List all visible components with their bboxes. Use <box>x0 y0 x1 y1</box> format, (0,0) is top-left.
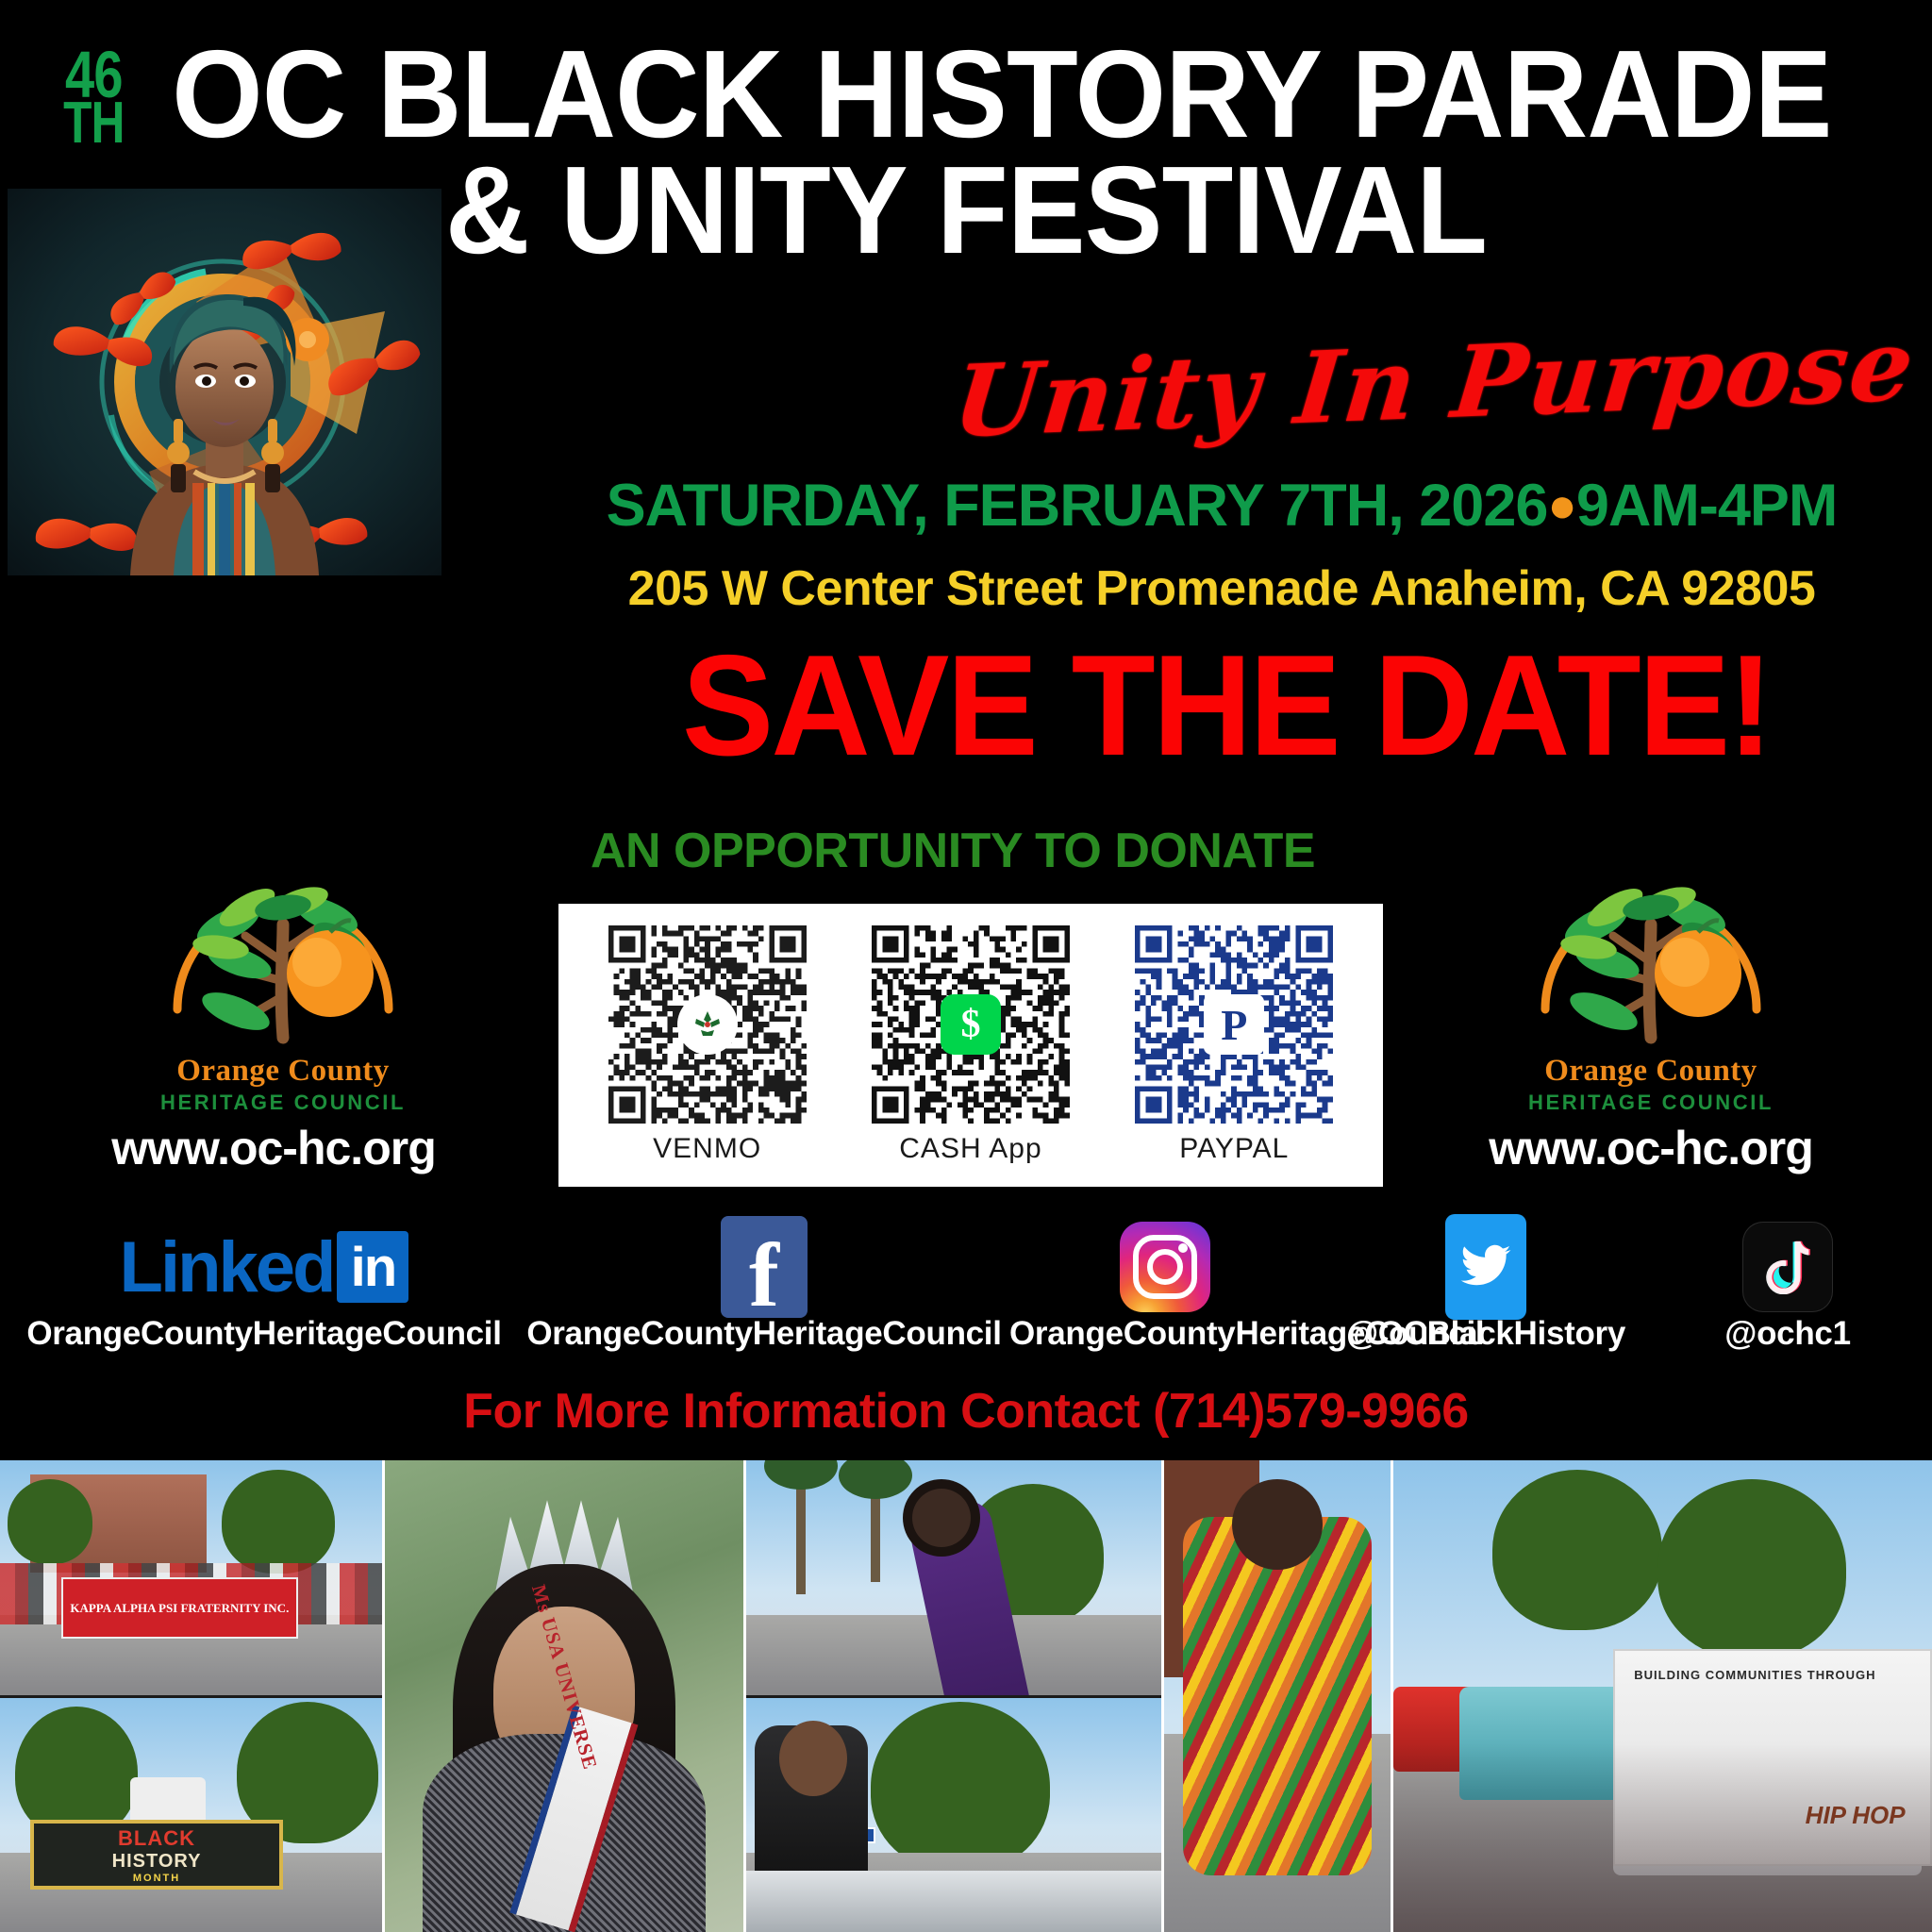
social-linkedin[interactable]: Linked in OrangeCountyHeritageCouncil <box>9 1226 519 1353</box>
collage-column-1: KAPPA ALPHA PSI FRATERNITY INC. BLACK HI… <box>0 1460 382 1932</box>
facebook-icon[interactable]: f <box>721 1216 808 1318</box>
logo-subtitle-left: HERITAGE COUNCIL <box>142 1091 425 1115</box>
collage-photo-kente-dancer <box>1164 1460 1391 1932</box>
linkedin-icon[interactable]: Linked in <box>9 1226 519 1307</box>
oc-heritage-logo-right: Orange County HERITAGE COUNCIL <box>1509 849 1792 1115</box>
social-tiktok[interactable]: @ochc1 <box>1651 1226 1924 1353</box>
hero-illustration <box>8 189 441 575</box>
social-twitter[interactable]: @OCBlackHistory <box>1321 1226 1651 1353</box>
orange-tree-icon <box>1509 849 1792 1052</box>
paypal-badge-icon: P <box>1204 994 1264 1055</box>
venmo-badge-icon <box>677 994 738 1055</box>
social-media-row: Linked in OrangeCountyHeritageCouncil f … <box>0 1226 1932 1377</box>
collage-photo-dancer <box>746 1460 1161 1695</box>
qr-code-venmo-image[interactable] <box>608 925 807 1124</box>
twitter-handle: @OCBlackHistory <box>1321 1315 1651 1353</box>
tagline-unity-in-purpose: Unity In Purpose <box>579 307 1921 475</box>
hip-hop-banner-text: BUILDING COMMUNITIES THROUGH <box>1634 1668 1875 1682</box>
tiktok-note-glyph <box>1763 1240 1812 1294</box>
oc-heritage-logo-left: Orange County HERITAGE COUNCIL <box>142 849 425 1115</box>
twitter-icon[interactable] <box>1445 1214 1526 1320</box>
bhm-line-1: BLACK <box>118 1826 195 1851</box>
linkedin-in-badge: in <box>337 1231 408 1303</box>
headline-line-1: 46 TH OC BLACK HISTORY PARADE <box>0 32 1932 157</box>
contact-line: For More Information Contact (714)579-99… <box>0 1383 1932 1440</box>
tiktok-icon[interactable] <box>1742 1222 1833 1312</box>
event-date-time: SATURDAY, FEBRUARY 7TH, 2026●9AM-4PM <box>528 472 1915 540</box>
qr-cashapp[interactable]: $ CASH App <box>853 925 1089 1165</box>
event-address: 205 W Center Street Promenade Anaheim, C… <box>528 560 1915 617</box>
qr-venmo[interactable]: VENMO <box>590 925 825 1165</box>
donate-heading: AN OPPORTUNITY TO DONATE <box>528 823 1377 879</box>
tiktok-handle: @ochc1 <box>1651 1315 1924 1353</box>
collage-photo-convertible <box>746 1698 1161 1932</box>
qr-label-cashapp: CASH App <box>899 1133 1041 1165</box>
donation-qr-panel: VENMO $ CASH App P PAYPAL <box>558 904 1383 1187</box>
ordinal-46th: 46 TH <box>63 32 125 146</box>
hero-image <box>8 189 441 575</box>
date-separator-dot: ● <box>1547 478 1575 533</box>
website-url-right[interactable]: www.oc-hc.org <box>1434 1121 1868 1175</box>
event-date: SATURDAY, FEBRUARY 7TH, 2026 <box>607 473 1548 539</box>
collage-photo-queen: Ms USA UNIVERSE <box>385 1460 743 1932</box>
save-the-date-banner: SAVE THE DATE! <box>557 634 1897 777</box>
photo-collage: KAPPA ALPHA PSI FRATERNITY INC. BLACK HI… <box>0 1460 1932 1932</box>
bhm-line-3: MONTH <box>133 1873 180 1884</box>
facebook-handle: OrangeCountyHeritageCouncil <box>519 1315 1009 1353</box>
collage-photo-fraternity: KAPPA ALPHA PSI FRATERNITY INC. <box>0 1460 382 1695</box>
black-history-banner: BLACK HISTORY MONTH <box>30 1820 282 1890</box>
qr-code-paypal-image[interactable]: P <box>1135 925 1333 1124</box>
linkedin-wordmark: Linked <box>120 1226 334 1308</box>
linkedin-handle: OrangeCountyHeritageCouncil <box>9 1315 519 1353</box>
social-instagram[interactable]: OrangeCountyHeritageCouncil <box>1009 1226 1321 1353</box>
qr-paypal[interactable]: P PAYPAL <box>1116 925 1352 1165</box>
logo-name-right: Orange County <box>1509 1054 1792 1089</box>
orange-tree-icon <box>142 849 425 1052</box>
ordinal-suffix: TH <box>63 101 125 146</box>
instagram-dot <box>1178 1243 1188 1253</box>
instagram-handle: OrangeCountyHeritageCouncil <box>1009 1315 1321 1353</box>
twitter-bird-glyph <box>1458 1244 1513 1290</box>
social-facebook[interactable]: f OrangeCountyHeritageCouncil <box>519 1226 1009 1353</box>
instagram-lens <box>1147 1249 1183 1285</box>
collage-photo-lowriders: BUILDING COMMUNITIES THROUGH HIP HOP <box>1393 1460 1932 1932</box>
fraternity-banner: KAPPA ALPHA PSI FRATERNITY INC. <box>61 1577 298 1639</box>
logo-subtitle-right: HERITAGE COUNCIL <box>1509 1091 1792 1115</box>
logo-name-left: Orange County <box>142 1054 425 1089</box>
bhm-line-2: HISTORY <box>112 1851 202 1873</box>
qr-label-paypal: PAYPAL <box>1179 1133 1289 1165</box>
fraternity-banner-text: KAPPA ALPHA PSI FRATERNITY INC. <box>70 1601 289 1616</box>
event-time: 9AM-4PM <box>1576 473 1838 539</box>
website-url-left[interactable]: www.oc-hc.org <box>57 1121 491 1175</box>
collage-column-3 <box>746 1460 1161 1932</box>
cashapp-badge-icon: $ <box>941 994 1001 1055</box>
collage-photo-black-history-banner: BLACK HISTORY MONTH <box>0 1698 382 1932</box>
qr-label-venmo: VENMO <box>653 1133 761 1165</box>
title-line-1: OC BLACK HISTORY PARADE <box>172 32 1831 157</box>
instagram-icon[interactable] <box>1120 1222 1210 1312</box>
qr-code-cashapp-image[interactable]: $ <box>872 925 1070 1124</box>
